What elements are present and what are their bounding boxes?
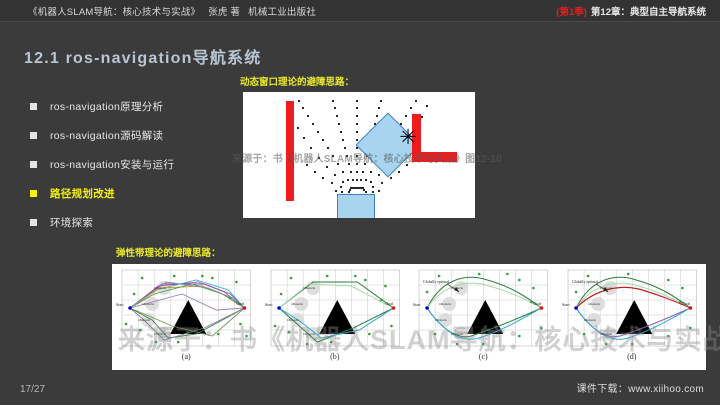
svg-text:Obstacle: Obstacle: [154, 286, 166, 290]
list-item-label: ros-navigation安装与运行: [50, 157, 174, 172]
dwa-diagram: ✳: [243, 92, 475, 218]
list-item-label: 环境探索: [50, 215, 93, 230]
panel-b-start-label: Start: [265, 302, 273, 307]
header-chapter-info: (第1季)第12章：典型自主导航系统: [556, 4, 706, 18]
svg-text:Obstacle: Obstacle: [588, 302, 600, 306]
svg-text:Obstacle: Obstacle: [475, 325, 487, 329]
panel-a-goal-label: Goal: [236, 301, 245, 306]
elastic-band-figure-caption: 弹性带理论的避障思路：: [116, 245, 221, 259]
bullet-square-icon: [30, 161, 37, 168]
panel-a-graphic: Start Goal Obstacle Obstacle Obstacle Ob…: [112, 264, 261, 352]
svg-text:Obstacle: Obstacle: [451, 332, 463, 336]
season-badge: (第1季): [556, 7, 587, 18]
header-publisher: 机械工业出版社: [248, 7, 316, 18]
list-item[interactable]: 环境探索: [30, 208, 230, 237]
panel-d-start-label: Start: [562, 302, 570, 307]
svg-text:Obstacle: Obstacle: [439, 302, 451, 306]
panel-d-graphic: Globally optimal Start Goal Obstacle Obs…: [558, 264, 707, 352]
svg-text:Obstacle: Obstacle: [142, 302, 154, 306]
collision-burst-icon: ✳: [398, 128, 418, 148]
list-item-label: 路径规划改进: [50, 186, 115, 201]
svg-text:Obstacle: Obstacle: [327, 325, 339, 329]
header-book-title: 《机器人SLAM导航：核心技术与实战》: [28, 7, 200, 18]
panel-c-start-label: Start: [413, 302, 421, 307]
dwa-left-wall-obstacle: [286, 101, 294, 201]
svg-text:Obstacle: Obstacle: [303, 332, 315, 336]
panel-label-a: (a): [112, 352, 261, 370]
svg-text:Obstacle: Obstacle: [138, 318, 150, 322]
header-book-info: 《机器人SLAM导航：核心技术与实战》张虎 著机械工业出版社: [28, 4, 316, 18]
panel-d-globally-optimal-label: Globally optimal: [572, 280, 598, 284]
download-url: 课件下载：www.xiihoo.com: [577, 380, 704, 395]
panel-label-b: (b): [261, 352, 410, 370]
bullet-square-icon: [30, 219, 37, 226]
list-item-label: ros-navigation源码解读: [50, 128, 163, 143]
svg-text:Obstacle: Obstacle: [154, 332, 166, 336]
svg-text:Obstacle: Obstacle: [624, 325, 636, 329]
bullet-square-icon: [30, 190, 37, 197]
panel-label-c: (c): [409, 352, 558, 370]
elastic-band-panel-row: Start Goal Obstacle Obstacle Obstacle Ob…: [112, 264, 706, 352]
panel-c-graphic: Globally optimal Start Goal Obstacle Obs…: [409, 264, 558, 352]
list-item[interactable]: ros-navigation安装与运行: [30, 150, 230, 179]
elastic-band-panel-d: Globally optimal Start Goal Obstacle Obs…: [558, 264, 707, 352]
elastic-band-panel-c: Globally optimal Start Goal Obstacle Obs…: [409, 264, 558, 352]
page-number: 17/27: [20, 384, 45, 395]
list-item-active[interactable]: 路径规划改进: [30, 179, 230, 208]
svg-text:Obstacle: Obstacle: [600, 286, 612, 290]
svg-text:Obstacle: Obstacle: [303, 286, 315, 290]
bullet-square-icon: [30, 132, 37, 139]
elastic-band-panel-a: Start Goal Obstacle Obstacle Obstacle Ob…: [112, 264, 261, 352]
svg-text:Obstacle: Obstacle: [451, 286, 463, 290]
dwa-figure-caption: 动态窗口理论的避障思路：: [240, 74, 354, 88]
panel-c-globally-optimal-label: Globally optimal: [423, 280, 449, 284]
list-item-label: ros-navigation原理分析: [50, 99, 163, 114]
svg-text:Obstacle: Obstacle: [291, 302, 303, 306]
list-item[interactable]: ros-navigation源码解读: [30, 121, 230, 150]
dwa-robot-start: [337, 194, 375, 218]
outline-list: ros-navigation原理分析 ros-navigation源码解读 ro…: [30, 92, 230, 237]
slide-header: 《机器人SLAM导航：核心技术与实战》张虎 著机械工业出版社 (第1季)第12章…: [0, 0, 720, 22]
svg-text:Obstacle: Obstacle: [178, 325, 190, 329]
svg-text:Obstacle: Obstacle: [287, 318, 299, 322]
elastic-band-diagram: Start Goal Obstacle Obstacle Obstacle Ob…: [112, 264, 706, 370]
header-chapter: 第12章：典型自主导航系统: [591, 7, 706, 18]
svg-text:Obstacle: Obstacle: [584, 318, 596, 322]
panel-label-d: (d): [558, 352, 707, 370]
panel-d-goal-label: Goal: [682, 301, 691, 306]
elastic-band-panel-b: Start Goal Obstacle Obstacle Obstacle Ob…: [261, 264, 410, 352]
panel-a-start-label: Start: [116, 302, 124, 307]
dwa-corner-obstacle-horizontal: [412, 152, 457, 162]
elastic-band-panel-labels: (a) (b) (c) (d): [112, 352, 706, 370]
panel-b-goal-label: Goal: [385, 301, 394, 306]
panel-c-goal-label: Goal: [533, 301, 542, 306]
bullet-square-icon: [30, 103, 37, 110]
page-title: 12.1 ros-navigation导航系统: [24, 44, 261, 68]
svg-text:Obstacle: Obstacle: [435, 318, 447, 322]
panel-b-graphic: Start Goal Obstacle Obstacle Obstacle Ob…: [261, 264, 410, 352]
svg-text:Obstacle: Obstacle: [600, 332, 612, 336]
header-author: 张虎 著: [208, 7, 240, 18]
list-item[interactable]: ros-navigation原理分析: [30, 92, 230, 121]
